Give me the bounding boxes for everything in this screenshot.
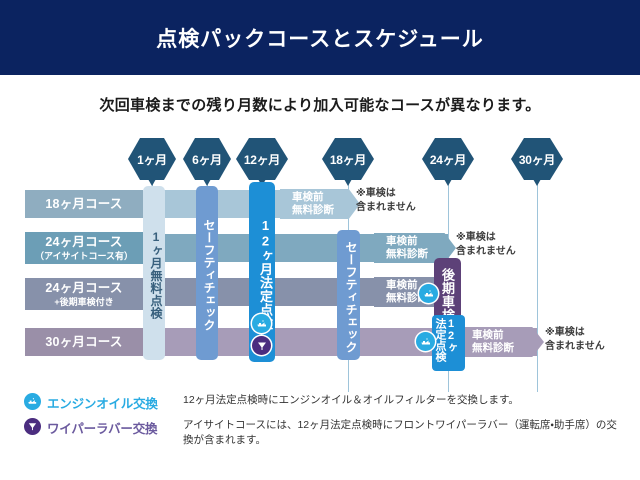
milestone-tail-18 [344, 179, 352, 186]
pre-inspection-arrow-row1: 車検前 無料診断 [280, 189, 360, 219]
pre-inspection-line1-r4: 車検前 [472, 329, 514, 342]
legend-row-wiper: ワイパーラバー交換 アイサイトコースには、12ヶ月法定点検時にフロントワイパーラ… [24, 418, 624, 448]
legend-row-oil: エンジンオイル交換 12ヶ月法定点検時にエンジンオイル＆オイルフィルターを交換し… [24, 393, 624, 412]
milestone-tail-6 [203, 179, 211, 186]
note-row2: ※車検は 含まれません [456, 231, 516, 258]
legend-desc-oil: 12ヶ月法定点検時にエンジンオイル＆オイルフィルターを交換します。 [183, 393, 624, 408]
row-label-24-late-sub: +後期車検付き [54, 297, 113, 307]
safety-check-box-6: セーフティチェック [196, 186, 218, 360]
row-label-18-main: 18ヶ月コース [45, 197, 122, 211]
safety-check-box-18: セーフティチェック [337, 230, 360, 360]
row-label-24-late-main: 24ヶ月コース [45, 281, 122, 295]
milestone-label-30: 30ヶ月 [519, 151, 555, 168]
milestone-label-1: 1ヶ月 [137, 151, 167, 168]
legend-desc-wiper: アイサイトコースには、12ヶ月法定点検時にフロントワイパーラバー（運転席・助手席… [183, 418, 624, 448]
legal12-box-row4: 法定点検 12ヶ [432, 315, 465, 371]
row-label-24-late: 24ヶ月コース +後期車検付き [25, 278, 143, 310]
wiper-icon-col12 [252, 336, 271, 355]
guide-line-30 [537, 172, 538, 392]
milestone-badge-1: 1ヶ月 [128, 138, 176, 180]
infographic-page: 点検パックコースとスケジュール 次回車検までの残り月数により加入可能なコースが異… [0, 0, 640, 480]
oil-can-icon-row4 [416, 332, 435, 351]
milestone-badge-30: 30ヶ月 [511, 138, 563, 180]
milestone-tail-30 [533, 179, 541, 186]
oil-can-icon [24, 393, 41, 410]
pre-inspection-line2-r1: 無料診断 [292, 204, 334, 217]
milestone-badge-24: 24ヶ月 [422, 138, 474, 180]
milestone-tail-1 [148, 179, 156, 186]
note-row1: ※車検は 含まれません [356, 187, 416, 214]
row-label-24-main: 24ヶ月コース [45, 235, 122, 249]
pre-inspection-line2-r2: 無料診断 [386, 248, 428, 261]
legal12-inspection-box: 12ヶ月法定点検 [249, 182, 275, 362]
milestone-label-18: 18ヶ月 [330, 151, 366, 168]
legal12-box-row4-b: 12ヶ [445, 315, 456, 371]
pre-inspection-line1-r1: 車検前 [292, 191, 334, 204]
oil-can-icon-row3 [419, 284, 438, 303]
schedule-chart: 1ヶ月 6ヶ月 12ヶ月 18ヶ月 24ヶ月 30ヶ月 18ヶ月コース 24ヶ月… [0, 130, 640, 380]
milestone-tail-24 [444, 179, 452, 186]
milestone-label-6: 6ヶ月 [192, 151, 222, 168]
page-title: 点検パックコースとスケジュール [156, 23, 483, 53]
note-row4: ※車検は 含まれません [545, 326, 605, 353]
milestone-badge-12: 12ヶ月 [236, 138, 288, 180]
page-header: 点検パックコースとスケジュール [0, 0, 640, 75]
row-label-30-main: 30ヶ月コース [45, 335, 122, 349]
row-label-18: 18ヶ月コース [25, 190, 143, 218]
safety-check-label-18: セーフティチェック [343, 241, 360, 354]
legend-title-oil: エンジンオイル交換 [47, 393, 183, 412]
oil-can-icon-col12 [252, 314, 271, 333]
month1-inspection-label: 1ヶ月無料点検 [148, 230, 165, 320]
legend-title-wiper: ワイパーラバー交換 [47, 418, 183, 437]
pre-inspection-arrow-row4: 車検前 無料診断 [460, 327, 544, 357]
milestone-badge-6: 6ヶ月 [183, 138, 231, 180]
row-label-24-sub: （アイサイトコース有） [35, 251, 133, 261]
pre-inspection-line1-r2: 車検前 [386, 235, 428, 248]
milestone-label-12: 12ヶ月 [244, 151, 280, 168]
row-label-30: 30ヶ月コース [25, 328, 143, 356]
milestone-badge-18: 18ヶ月 [322, 138, 374, 180]
safety-check-label-6: セーフティチェック [201, 219, 218, 332]
later-inspection-label: 後期車検 [438, 268, 457, 322]
legend: エンジンオイル交換 12ヶ月法定点検時にエンジンオイル＆オイルフィルターを交換し… [24, 393, 624, 454]
wiper-icon [24, 418, 41, 435]
pre-inspection-line2-r4: 無料診断 [472, 342, 514, 355]
subtitle: 次回車検までの残り月数により加入可能なコースが異なります。 [0, 94, 640, 115]
month1-inspection-box: 1ヶ月無料点検 [143, 186, 165, 360]
milestone-label-24: 24ヶ月 [430, 151, 466, 168]
row-label-24: 24ヶ月コース （アイサイトコース有） [25, 232, 143, 264]
